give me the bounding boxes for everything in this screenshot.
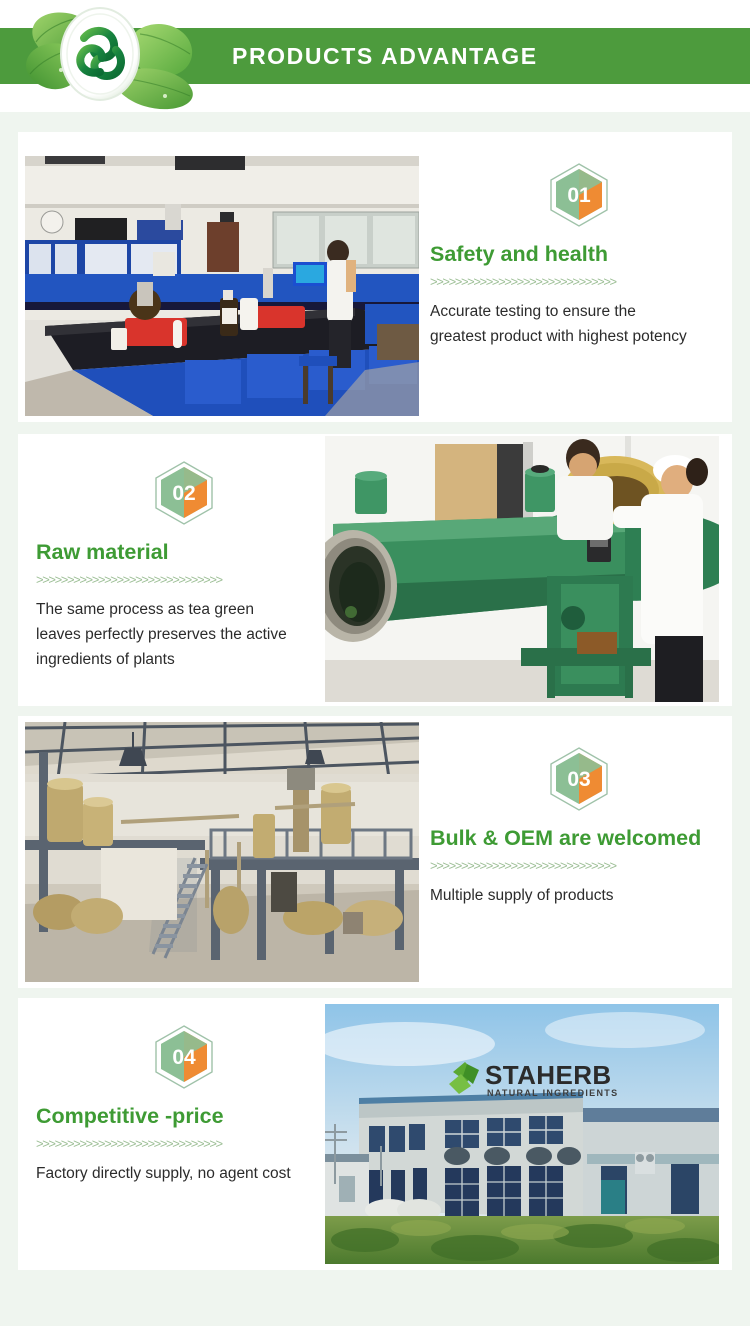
advantage-panel-2: 02 Raw material >>>>>>>>>>>>>>>>>>>>>>>>… bbox=[36, 460, 336, 672]
number-badge-4: 04 bbox=[153, 1024, 215, 1090]
factory-building-photo: STAHERB NATURAL INGREDIENTS bbox=[325, 1004, 719, 1264]
badge-number-3: 03 bbox=[567, 768, 590, 791]
advantage-card-1: 01 Safety and health >>>>>>>>>>>>>>>>>>>… bbox=[18, 132, 732, 422]
advantage-panel-4: 04 Competitive -price >>>>>>>>>>>>>>>>>>… bbox=[36, 1024, 336, 1186]
chevron-divider-3: >>>>>>>>>>>>>>>>>>>>>>>>>>>>>> bbox=[430, 859, 688, 873]
page-title: PRODUCTS ADVANTAGE bbox=[232, 28, 538, 84]
staherb-leaf-logo bbox=[14, 2, 224, 110]
number-badge-1: 01 bbox=[548, 162, 610, 228]
number-badge-2: 02 bbox=[153, 460, 215, 526]
laboratory-photo bbox=[25, 156, 419, 416]
tea-roasting-machine-photo bbox=[325, 436, 719, 702]
badge-number-2: 02 bbox=[172, 482, 195, 505]
advantage-card-3: 03 Bulk & OEM are welcomed >>>>>>>>>>>>>… bbox=[18, 716, 732, 988]
advantage-card-4: STAHERB NATURAL INGREDIENTS bbox=[18, 998, 732, 1270]
advantage-title-3: Bulk & OEM are welcomed bbox=[430, 826, 730, 850]
badge-number-1: 01 bbox=[567, 184, 591, 207]
extraction-workshop-photo bbox=[25, 722, 419, 982]
page-header: PRODUCTS ADVANTAGE bbox=[0, 0, 750, 112]
advantage-description-3: Multiple supply of products bbox=[430, 883, 694, 908]
advantage-description-2: The same process as tea green leaves per… bbox=[36, 597, 300, 672]
advantage-title-1: Safety and health bbox=[430, 242, 730, 266]
advantage-title-2: Raw material bbox=[36, 540, 336, 564]
advantage-card-2: 02 Raw material >>>>>>>>>>>>>>>>>>>>>>>>… bbox=[18, 434, 732, 706]
chevron-divider-2: >>>>>>>>>>>>>>>>>>>>>>>>>>>>>> bbox=[36, 573, 294, 587]
advantage-panel-3: 03 Bulk & OEM are welcomed >>>>>>>>>>>>>… bbox=[430, 746, 730, 908]
svg-text:STAHERB: STAHERB bbox=[485, 1060, 612, 1090]
number-badge-3: 03 bbox=[548, 746, 610, 812]
advantage-title-4: Competitive -price bbox=[36, 1104, 336, 1128]
chevron-divider-4: >>>>>>>>>>>>>>>>>>>>>>>>>>>>>> bbox=[36, 1137, 294, 1151]
chevron-divider-1: >>>>>>>>>>>>>>>>>>>>>>>>>>>>>> bbox=[430, 275, 688, 289]
products-advantage-page: PRODUCTS ADVANTAGE bbox=[0, 0, 750, 1326]
advantage-panel-1: 01 Safety and health >>>>>>>>>>>>>>>>>>>… bbox=[430, 162, 730, 349]
advantage-description-4: Factory directly supply, no agent cost bbox=[36, 1161, 300, 1186]
badge-number-4: 04 bbox=[172, 1046, 196, 1069]
svg-text:NATURAL INGREDIENTS: NATURAL INGREDIENTS bbox=[487, 1088, 618, 1098]
advantage-description-1: Accurate testing to ensure the greatest … bbox=[430, 299, 694, 349]
